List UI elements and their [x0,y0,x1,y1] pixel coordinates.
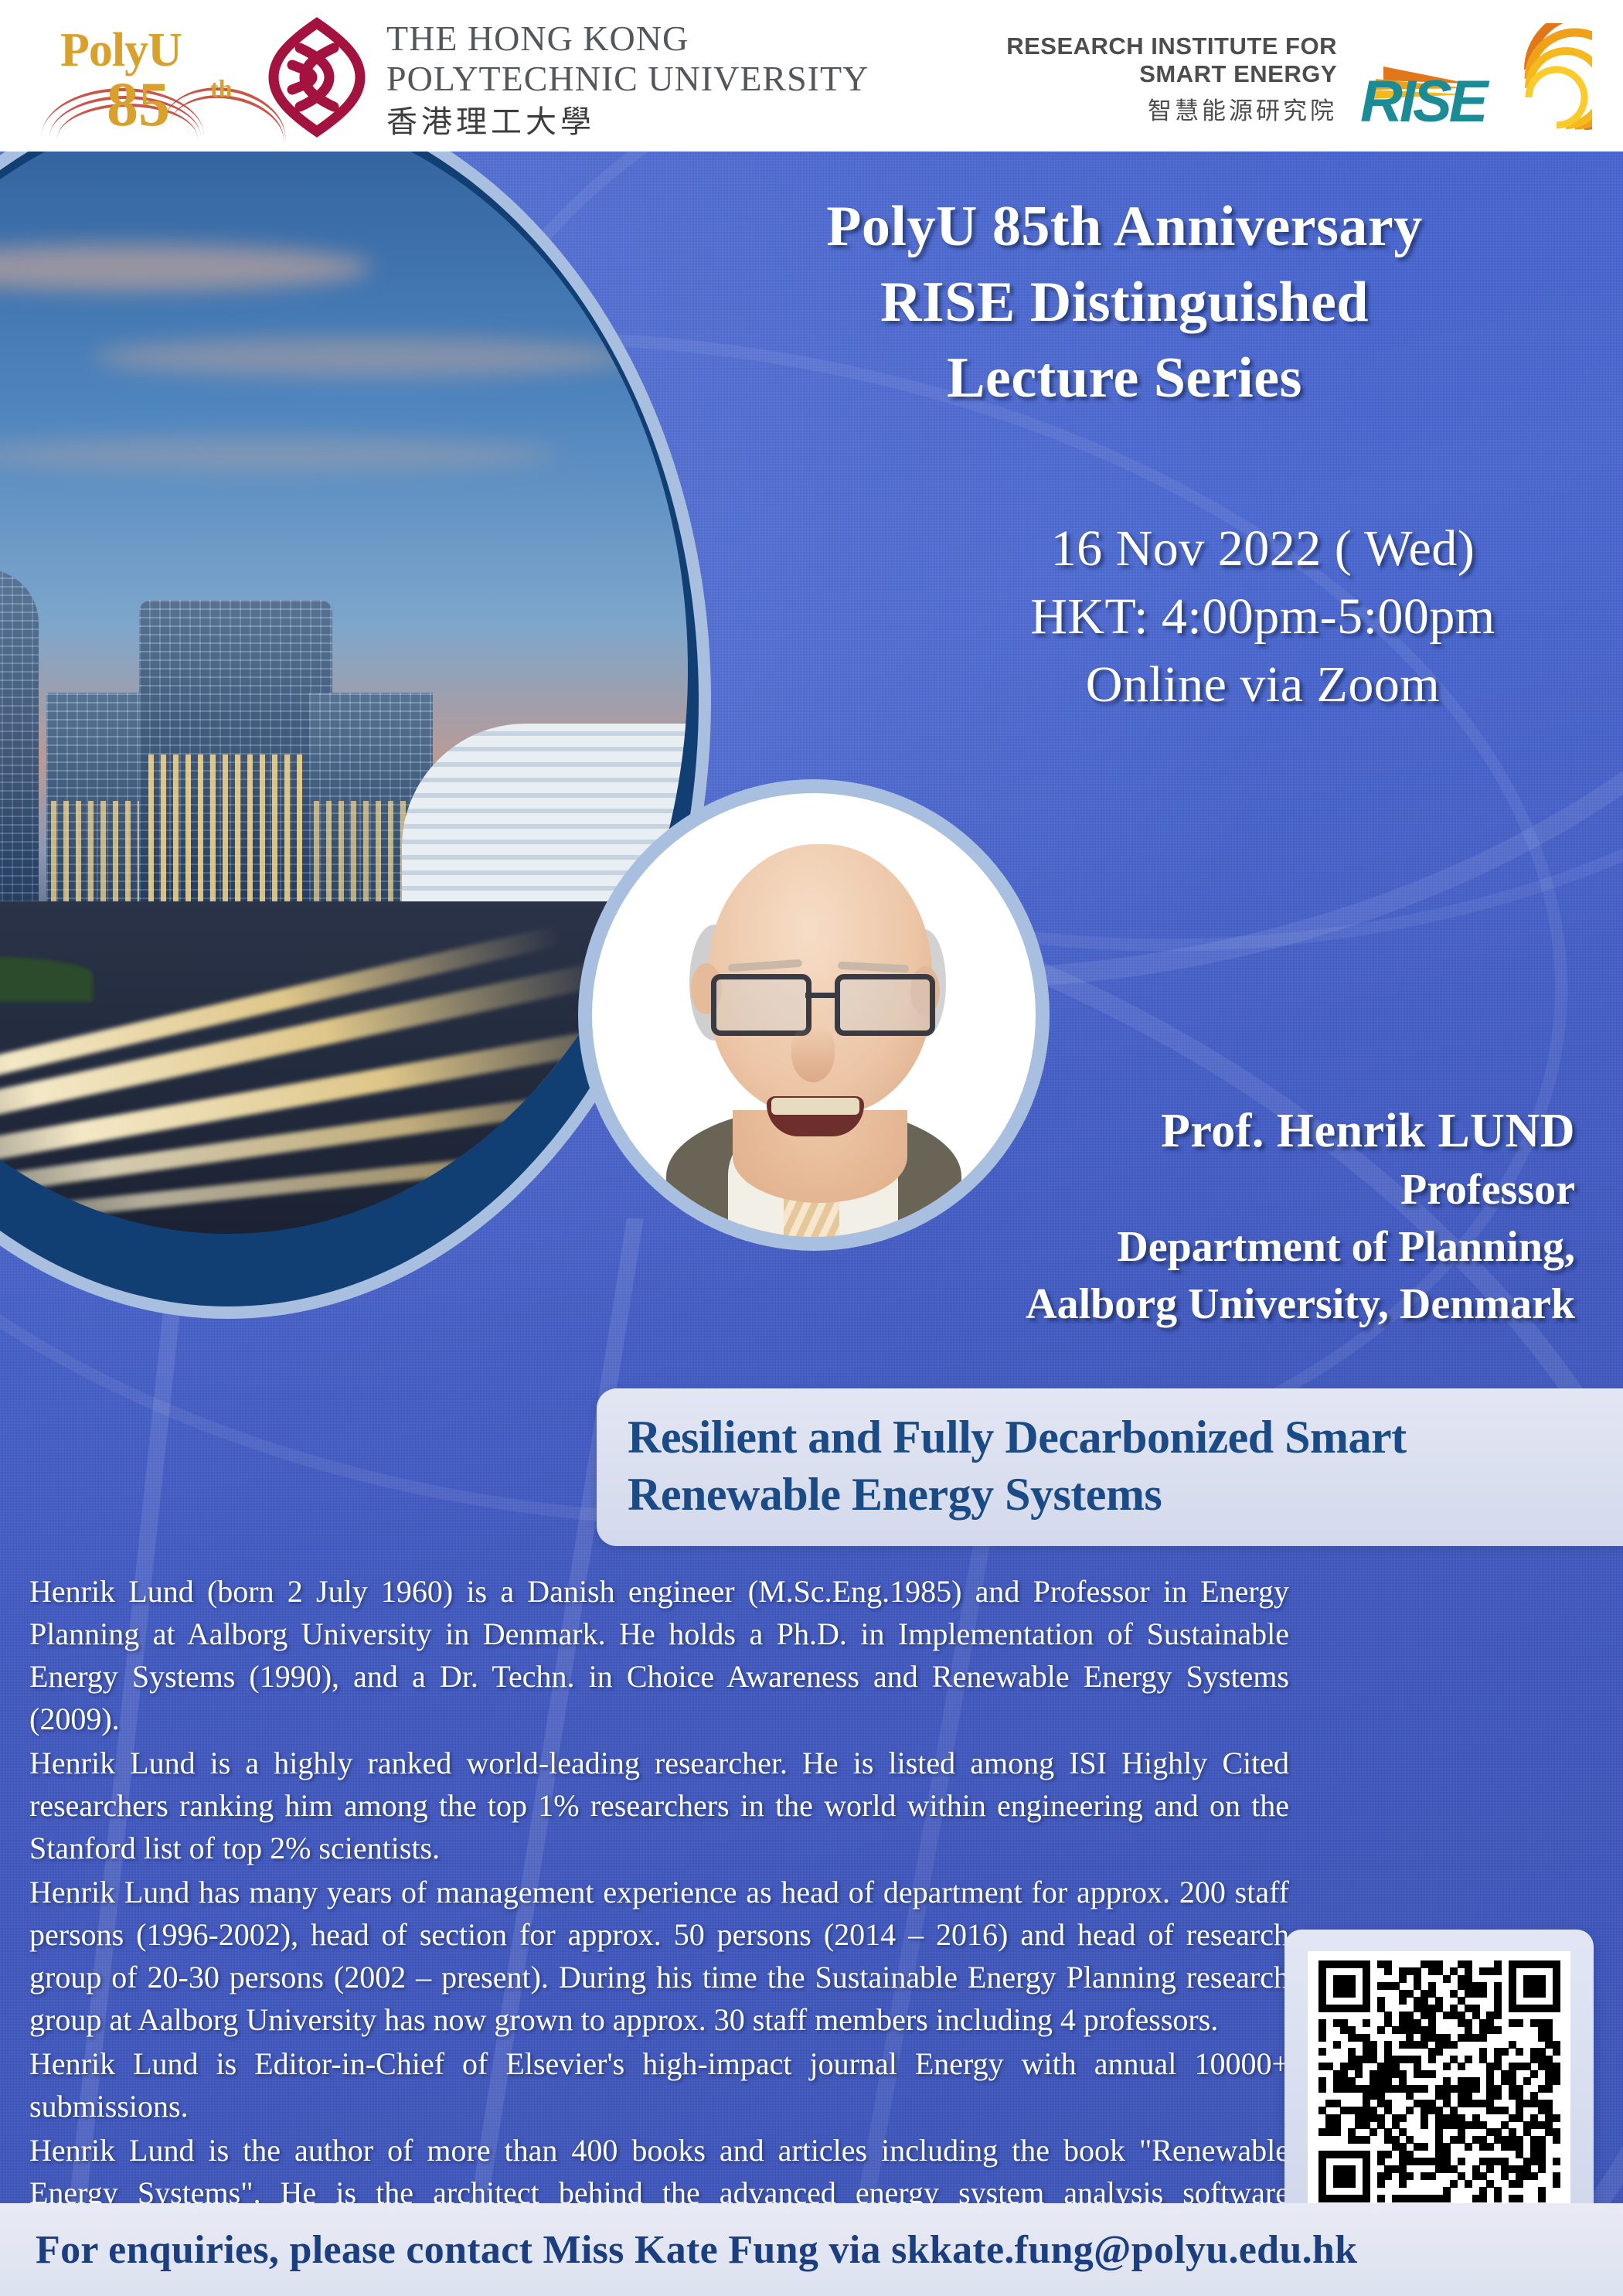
bio-paragraph: Henrik Lund (born 2 July 1960) is a Dani… [29,1570,1289,1740]
bio-paragraph: Henrik Lund is a highly ranked world-lea… [29,1742,1289,1869]
poster-title-line3: Lecture Series [680,340,1569,416]
eyeglasses-icon [708,969,931,1030]
rise-name-en-line1: RESEARCH INSTITUTE FOR [1006,32,1337,60]
enquiries-text: For enquiries, please contact Miss Kate … [0,2227,1357,2273]
rise-name-en: RESEARCH INSTITUTE FOR SMART ENERGY [1006,32,1337,88]
rise-arcs-icon: RISE [1352,23,1592,131]
university-name-chinese: 香港理工大學 [386,102,869,142]
poster-title: PolyU 85th Anniversary RISE Distinguishe… [680,189,1569,416]
lecture-title-banner: Resilient and Fully Decarbonized Smart R… [597,1388,1623,1546]
polyu-85-number: 85 [107,68,170,141]
poster-canvas: PolyU 85th Anniversary RISE Distinguishe… [0,152,1623,2296]
poster-title-line2: RISE Distinguished [680,264,1569,340]
speaker-department: Department of Planning, [819,1218,1575,1276]
city-photo-frame [0,152,711,1319]
speaker-biography: Henrik Lund (born 2 July 1960) is a Dani… [29,1570,1289,2296]
university-name-line2: POLYTECHNIC UNIVERSITY [386,59,869,99]
event-date: 16 Nov 2022 ( Wed) [951,515,1575,583]
brand-header: PolyU 85 th THE HONG KONG POLYTECHNIC UN… [0,0,1623,152]
university-name-line1: THE HONG KONG [386,19,869,59]
lecture-title-line1: Resilient and Fully Decarbonized Smart [628,1409,1592,1466]
speaker-info: Prof. Henrik LUND Professor Department o… [819,1101,1575,1333]
polyu-knot-icon [255,17,379,137]
bio-paragraph: Henrik Lund has many years of management… [29,1871,1289,2041]
rise-wordmark: RISE [1360,68,1485,135]
event-venue: Online via Zoom [951,651,1575,719]
rise-name-chinese: 智慧能源研究院 [1148,91,1337,126]
bio-paragraph: Henrik Lund is Editor-in-Chief of Elsevi… [29,2042,1289,2127]
speaker-name: Prof. Henrik LUND [819,1101,1575,1161]
event-time: HKT: 4:00pm-5:00pm [951,583,1575,651]
polyu-85th-logo: PolyU 85 th [46,14,263,138]
rise-logo: RESEARCH INSTITUTE FOR SMART ENERGY 智慧能源… [1005,17,1592,137]
speaker-title: Professor [819,1161,1575,1218]
lecture-title-line2: Renewable Energy Systems [628,1466,1592,1523]
event-details: 16 Nov 2022 ( Wed) HKT: 4:00pm-5:00pm On… [951,515,1575,719]
rise-name-en-line2: SMART ENERGY [1006,60,1337,88]
contact-footer: For enquiries, please contact Miss Kate … [0,2203,1623,2296]
polyu-th-suffix: th [210,74,232,103]
university-name: THE HONG KONG POLYTECHNIC UNIVERSITY 香港理… [386,19,869,142]
poster-title-line1: PolyU 85th Anniversary [680,189,1569,264]
qr-code-image[interactable] [1308,1951,1570,2206]
speaker-affiliation: Aalborg University, Denmark [819,1276,1575,1333]
